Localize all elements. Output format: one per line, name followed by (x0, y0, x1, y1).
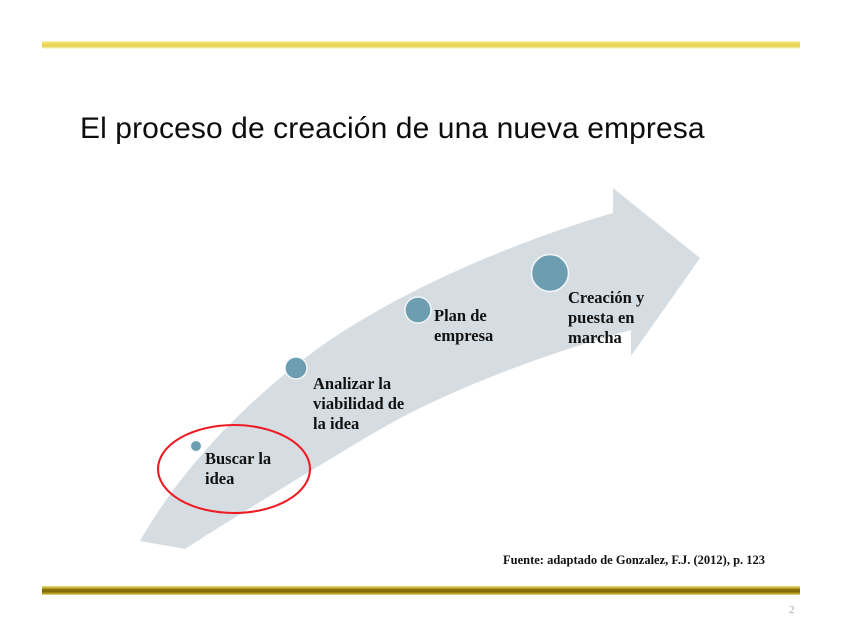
curved-arrow-shape (140, 188, 700, 549)
stage-marker-4[interactable] (532, 255, 569, 292)
stage-marker-2[interactable] (285, 357, 307, 379)
page-number: 2 (789, 604, 795, 616)
stage-marker-3[interactable] (405, 297, 431, 323)
stage-marker-1[interactable] (191, 441, 202, 452)
stage-label-creacion-puesta-en-marcha: Creación y puesta en marcha (568, 288, 644, 348)
stage-label-buscar-la-idea: Buscar la idea (205, 449, 271, 489)
slide-canvas: El proceso de creación de una nueva empr… (0, 0, 848, 636)
bottom-accent-rule (42, 586, 800, 595)
source-note: Fuente: adaptado de Gonzalez, F.J. (2012… (503, 553, 765, 568)
stage-label-analizar-viabilidad: Analizar la viabilidad de la idea (313, 374, 404, 434)
stage-label-plan-de-empresa: Plan de empresa (434, 306, 493, 346)
process-arrow-diagram (0, 0, 848, 636)
